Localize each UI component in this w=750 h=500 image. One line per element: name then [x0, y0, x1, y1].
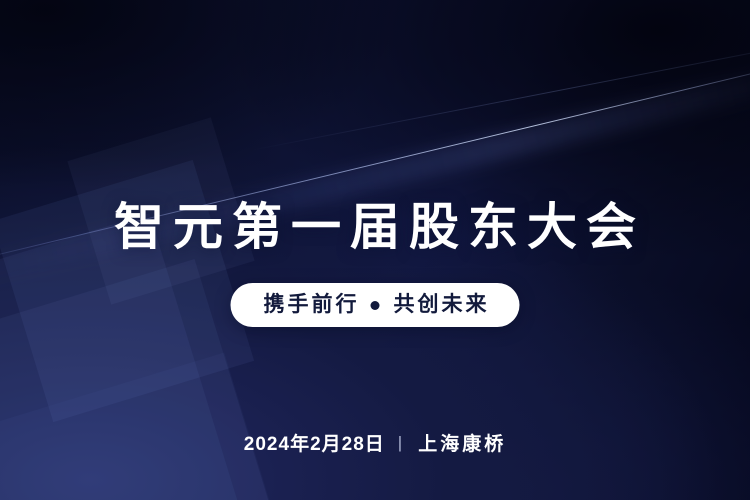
- slogan-left-text: 携手前行: [261, 283, 360, 327]
- bullet-dot-icon: [371, 301, 380, 310]
- slogan-pill: 携手前行 共创未来: [231, 283, 520, 327]
- banner-content: 智元第一届股东大会 携手前行 共创未来 2024年2月28日 | 上海康桥: [0, 0, 750, 500]
- event-banner: 智元第一届股东大会 携手前行 共创未来 2024年2月28日 | 上海康桥: [0, 0, 750, 500]
- event-meta: 2024年2月28日 | 上海康桥: [0, 429, 750, 456]
- slogan-right-text: 共创未来: [391, 283, 490, 327]
- meta-separator: |: [398, 433, 402, 453]
- event-location: 上海康桥: [415, 429, 506, 456]
- event-date: 2024年2月28日: [244, 429, 385, 456]
- page-title: 智元第一届股东大会: [0, 196, 750, 258]
